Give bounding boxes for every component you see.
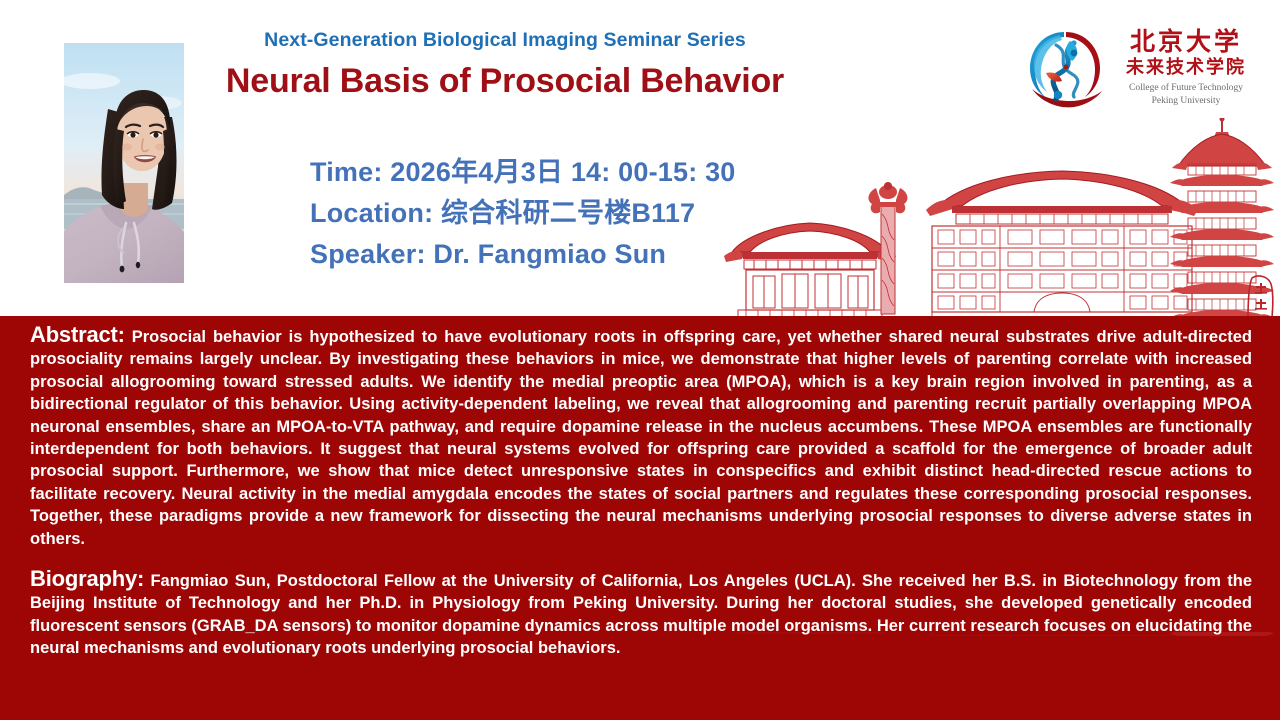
- body-text: Abstract: Prosocial behavior is hypothes…: [30, 316, 1252, 660]
- logo-college-cn: 未来技术学院: [1114, 59, 1258, 77]
- page-title: Neural Basis of Prosocial Behavior: [0, 62, 1010, 101]
- logo-wordmark: 北京大学 未来技术学院 College of Future Technology…: [1114, 29, 1258, 108]
- abstract-paragraph: Abstract: Prosocial behavior is hypothes…: [30, 324, 1252, 550]
- logo-college-en: College of Future Technology: [1114, 83, 1258, 95]
- logo-university-cn: 北京大学: [1114, 29, 1258, 54]
- series-kicker: Next-Generation Biological Imaging Semin…: [0, 29, 1010, 52]
- campus-architecture-watermark: [700, 118, 1280, 320]
- biography-body: Fangmiao Sun, Postdoctoral Fellow at the…: [30, 572, 1252, 657]
- dna-helix-emblem-icon: [1022, 23, 1108, 113]
- biography-paragraph: Biography: Fangmiao Sun, Postdoctoral Fe…: [30, 568, 1252, 660]
- event-details: Time: 2026年4月3日 14: 00-15: 30 Location: …: [310, 152, 736, 275]
- abstract-label: Abstract:: [30, 322, 125, 347]
- biography-label: Biography:: [30, 566, 144, 591]
- event-time: Time: 2026年4月3日 14: 00-15: 30: [310, 152, 736, 193]
- abstract-body: Prosocial behavior is hypothesized to ha…: [30, 328, 1252, 548]
- logo-university-en: Peking University: [1114, 96, 1258, 108]
- abstract-panel: Abstract: Prosocial behavior is hypothes…: [0, 316, 1280, 720]
- event-speaker: Speaker: Dr. Fangmiao Sun: [310, 234, 736, 275]
- peking-university-logo: 北京大学 未来技术学院 College of Future Technology…: [1022, 20, 1258, 116]
- seminar-poster: Next-Generation Biological Imaging Semin…: [0, 0, 1280, 720]
- event-location: Location: 综合科研二号楼B117: [310, 193, 736, 234]
